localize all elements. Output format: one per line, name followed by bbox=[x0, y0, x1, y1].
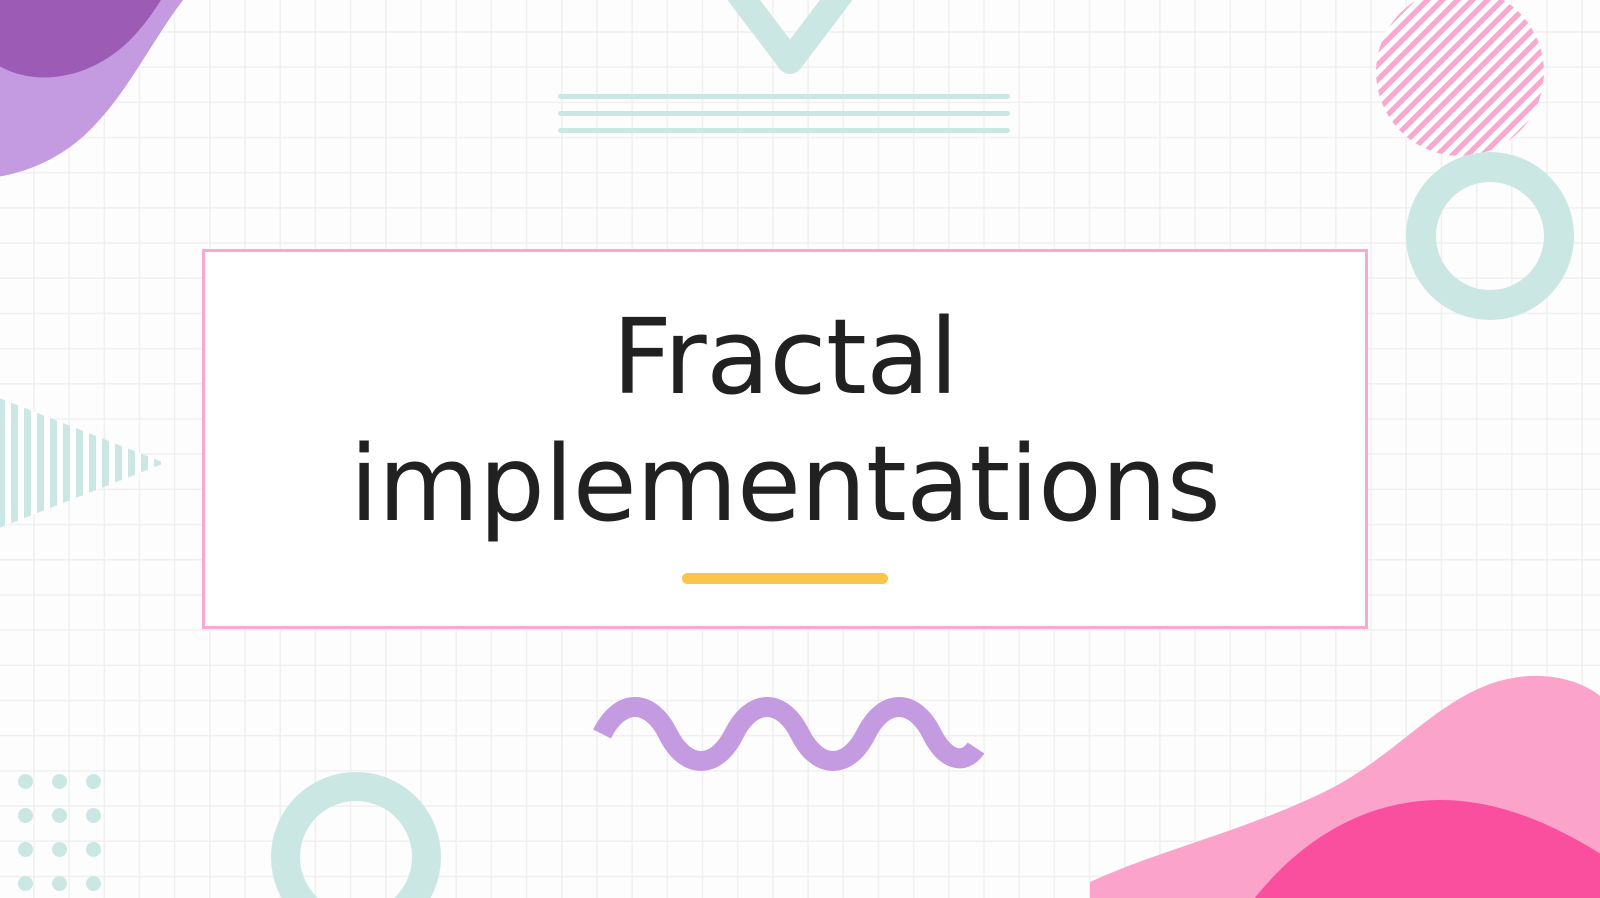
slide-canvas: Fractal implementations bbox=[0, 0, 1600, 898]
title-underline-accent bbox=[682, 573, 888, 584]
title-card: Fractal implementations bbox=[202, 249, 1368, 629]
page-title: Fractal implementations bbox=[221, 294, 1349, 548]
